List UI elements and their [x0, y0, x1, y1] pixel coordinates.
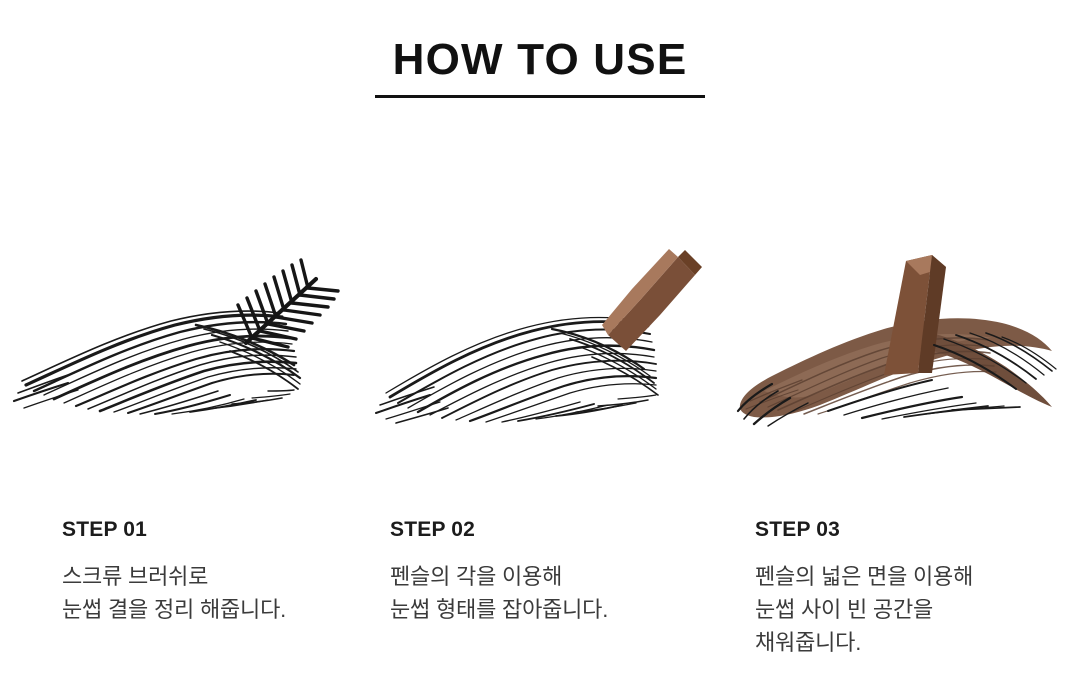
- step-label-03: STEP 03: [755, 518, 1075, 542]
- illustration-step-03: [720, 205, 1080, 435]
- step-column-02: STEP 02 펜슬의 각을 이용해 눈썹 형태를 잡아줍니다.: [390, 518, 710, 626]
- step-description-01: 스크류 브러쉬로 눈썹 결을 정리 해줍니다.: [62, 560, 382, 626]
- eyebrow-tail-strokes-step01: [196, 325, 300, 389]
- steps-text-row: STEP 01 스크류 브러쉬로 눈썹 결을 정리 해줍니다. STEP 02 …: [0, 518, 1080, 683]
- illustration-step-01: [0, 205, 360, 435]
- illustration-strip: [0, 205, 1080, 435]
- page-title: HOW TO USE: [0, 36, 1080, 84]
- eyebrow-pencil-angled-tip: [602, 249, 702, 351]
- header: HOW TO USE: [0, 0, 1080, 110]
- illustration-step-02: [360, 205, 720, 435]
- spoolie-brush-icon: [238, 260, 338, 347]
- step-column-01: STEP 01 스크류 브러쉬로 눈썹 결을 정리 해줍니다.: [62, 518, 382, 626]
- title-underline-rule: [375, 95, 705, 98]
- step-description-02: 펜슬의 각을 이용해 눈썹 형태를 잡아줍니다.: [390, 560, 710, 626]
- eyebrow-hair-strokes-black: [14, 311, 296, 414]
- step-column-03: STEP 03 펜슬의 넓은 면을 이용해 눈썹 사이 빈 공간을 채워줍니다.: [755, 518, 1075, 659]
- step-description-03: 펜슬의 넓은 면을 이용해 눈썹 사이 빈 공간을 채워줍니다.: [755, 560, 1075, 659]
- step-label-02: STEP 02: [390, 518, 710, 542]
- step-label-01: STEP 01: [62, 518, 382, 542]
